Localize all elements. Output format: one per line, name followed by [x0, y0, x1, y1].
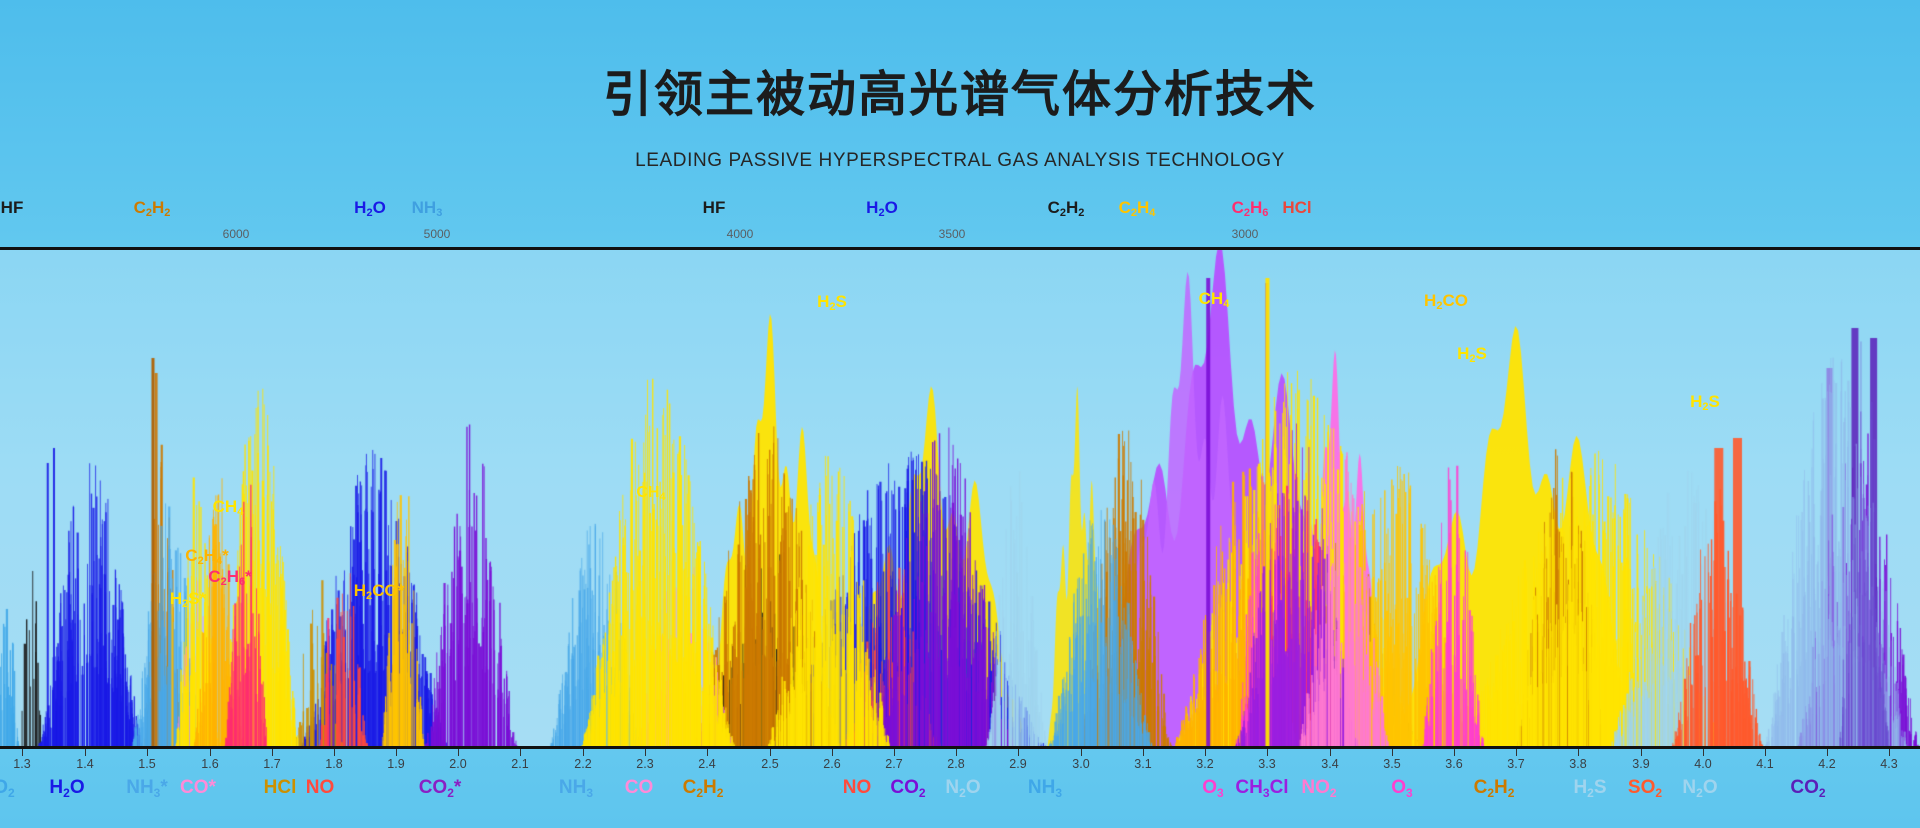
bottom-axis-tick-label: 1.5	[138, 757, 155, 771]
bottom-gas-label: HCl	[264, 777, 297, 799]
bottom-axis-tick	[1765, 749, 1766, 756]
bottom-gas-label: C2H2	[683, 777, 724, 799]
bottom-axis-tick-label: 1.3	[13, 757, 30, 771]
top-gas-label: C2H2	[1048, 198, 1085, 218]
bottom-axis-tick-label: 3.6	[1445, 757, 1462, 771]
bottom-axis-tick	[1267, 749, 1268, 756]
spectrum-chart: 60005000400035003000HFC2H2H2ONH3HFH2OC2H…	[0, 202, 1920, 748]
bottom-axis: 1.31.41.51.61.71.81.92.02.12.22.32.42.52…	[0, 749, 1920, 828]
bottom-axis-tick-label: 4.3	[1880, 757, 1897, 771]
bottom-axis-tick	[1827, 749, 1828, 756]
bottom-gas-label: CH3Cl	[1235, 777, 1288, 799]
bottom-axis-tick	[1889, 749, 1890, 756]
plot-area: CH4C2H4*C2H6*H2S*H2CO*CH4H2SCH4H2COH2SH2…	[0, 249, 1920, 748]
plot-gas-annotation: H2S	[1457, 344, 1487, 364]
bottom-gas-label: NO2	[1301, 777, 1336, 799]
bottom-axis-tick-label: 1.9	[387, 757, 404, 771]
bottom-axis-tick-label: 2.6	[823, 757, 840, 771]
bottom-axis-tick	[1330, 749, 1331, 756]
bottom-gas-label: CO2	[1790, 777, 1825, 799]
top-gas-label: NH3	[412, 198, 443, 218]
bottom-axis-tick	[1392, 749, 1393, 756]
bottom-axis-tick	[520, 749, 521, 756]
bottom-axis-tick	[1516, 749, 1517, 756]
plot-gas-annotation: H2CO	[1424, 291, 1468, 311]
plot-gas-annotation: H2S	[1690, 392, 1720, 412]
bottom-axis-tick	[707, 749, 708, 756]
bottom-axis-tick-label: 2.4	[698, 757, 715, 771]
bottom-axis-tick-label: 3.4	[1321, 757, 1338, 771]
bottom-gas-label: H2O	[49, 777, 84, 799]
bottom-axis-tick	[1578, 749, 1579, 756]
bottom-axis-tick	[272, 749, 273, 756]
bottom-axis-tick-label: 1.4	[76, 757, 93, 771]
bottom-gas-label: H2S	[1573, 777, 1606, 799]
bottom-axis-tick	[770, 749, 771, 756]
bottom-axis-tick	[147, 749, 148, 756]
bottom-axis-tick	[956, 749, 957, 756]
plot-gas-annotation: C2H6*	[208, 567, 251, 587]
bottom-gas-label: O3	[1391, 777, 1412, 799]
bottom-axis-tick	[1641, 749, 1642, 756]
bottom-axis-tick	[458, 749, 459, 756]
top-axis-tick-label: 6000	[223, 227, 250, 241]
bottom-axis-tick	[85, 749, 86, 756]
top-gas-label: HF	[1, 198, 24, 218]
bottom-axis-tick-label: 2.0	[449, 757, 466, 771]
plot-gas-annotation: H2S*	[170, 589, 206, 609]
bottom-gas-label: NO	[306, 777, 335, 799]
top-gas-label: HCl	[1282, 198, 1311, 218]
bottom-axis-tick-label: 2.5	[761, 757, 778, 771]
plot-gas-annotation: C2H4*	[185, 546, 228, 566]
bottom-axis-tick-label: 1.7	[263, 757, 280, 771]
plot-gas-annotation: H2CO*	[354, 581, 405, 601]
bottom-axis-tick-label: 1.8	[325, 757, 342, 771]
bottom-axis-tick	[210, 749, 211, 756]
bottom-axis-tick-label: 2.9	[1009, 757, 1026, 771]
bottom-gas-label: N2O	[1682, 777, 1717, 799]
top-gas-label: C2H6	[1232, 198, 1269, 218]
bottom-axis-tick	[1454, 749, 1455, 756]
bottom-axis-tick	[832, 749, 833, 756]
page-title: 引领主被动高光谱气体分析技术	[0, 55, 1920, 126]
bottom-axis-tick-label: 3.9	[1632, 757, 1649, 771]
bottom-axis-tick	[334, 749, 335, 756]
bottom-axis-tick	[396, 749, 397, 756]
bottom-axis-tick-label: 2.1	[511, 757, 528, 771]
bottom-axis-tick-label: 4.1	[1756, 757, 1773, 771]
bottom-gas-label: SO2	[1628, 777, 1662, 799]
bottom-axis-tick-label: 3.2	[1196, 757, 1213, 771]
plot-gas-annotation: CH4	[1199, 289, 1230, 309]
spectrum-canvas	[0, 249, 1920, 748]
bottom-axis-tick-label: 3.0	[1072, 757, 1089, 771]
top-gas-label: H2O	[354, 198, 386, 218]
bottom-axis-tick	[1143, 749, 1144, 756]
bottom-axis-tick-label: 3.8	[1569, 757, 1586, 771]
top-gas-label: HF	[703, 198, 726, 218]
bottom-gas-label: O3	[1202, 777, 1223, 799]
top-axis-tick-label: 5000	[424, 227, 451, 241]
bottom-gas-label: NH3	[559, 777, 593, 799]
plot-gas-annotation: CH4	[213, 497, 244, 517]
bottom-gas-label: NH3	[1028, 777, 1062, 799]
bottom-gas-label: CO2	[890, 777, 925, 799]
bottom-axis-line	[0, 746, 1920, 749]
bottom-axis-tick	[645, 749, 646, 756]
bottom-axis-tick	[1081, 749, 1082, 756]
bottom-axis-tick-label: 1.6	[201, 757, 218, 771]
top-gas-label: C2H4	[1119, 198, 1156, 218]
bottom-axis-tick-label: 3.7	[1507, 757, 1524, 771]
bottom-axis-tick	[894, 749, 895, 756]
bottom-gas-label: O2	[0, 777, 15, 799]
bottom-gas-label: NO	[843, 777, 872, 799]
bottom-axis-tick	[1018, 749, 1019, 756]
bottom-axis-tick	[583, 749, 584, 756]
bottom-axis-tick-label: 4.2	[1818, 757, 1835, 771]
header: 引领主被动高光谱气体分析技术 LEADING PASSIVE HYPERSPEC…	[0, 0, 1920, 200]
bottom-axis-tick	[1703, 749, 1704, 756]
bottom-gas-label: CO2*	[419, 777, 462, 799]
bottom-gas-label: CO*	[180, 777, 216, 799]
bottom-axis-tick-label: 2.3	[636, 757, 653, 771]
plot-gas-annotation: H2S	[817, 292, 847, 312]
top-axis-line	[0, 247, 1920, 250]
bottom-axis-tick-label: 2.8	[947, 757, 964, 771]
bottom-axis-tick-label: 3.3	[1258, 757, 1275, 771]
top-axis-tick-label: 4000	[727, 227, 754, 241]
top-axis-tick-label: 3500	[939, 227, 966, 241]
bottom-axis-tick	[1205, 749, 1206, 756]
poster-root: 引领主被动高光谱气体分析技术 LEADING PASSIVE HYPERSPEC…	[0, 0, 1920, 828]
bottom-axis-tick-label: 3.1	[1134, 757, 1151, 771]
bottom-axis-tick-label: 2.2	[574, 757, 591, 771]
bottom-gas-label: N2O	[945, 777, 980, 799]
top-gas-label: C2H2	[134, 198, 171, 218]
page-subtitle: LEADING PASSIVE HYPERSPECTRAL GAS ANALYS…	[0, 150, 1920, 172]
top-axis-tick-label: 3000	[1232, 227, 1259, 241]
bottom-gas-label: C2H2	[1474, 777, 1515, 799]
bottom-gas-label: CO	[625, 777, 654, 799]
plot-gas-annotation: CH4	[636, 484, 665, 502]
bottom-axis-tick-label: 4.0	[1694, 757, 1711, 771]
bottom-axis-tick	[22, 749, 23, 756]
top-gas-label: H2O	[866, 198, 898, 218]
bottom-gas-label: NH3*	[126, 777, 168, 799]
bottom-axis-tick-label: 3.5	[1383, 757, 1400, 771]
bottom-axis-tick-label: 2.7	[885, 757, 902, 771]
